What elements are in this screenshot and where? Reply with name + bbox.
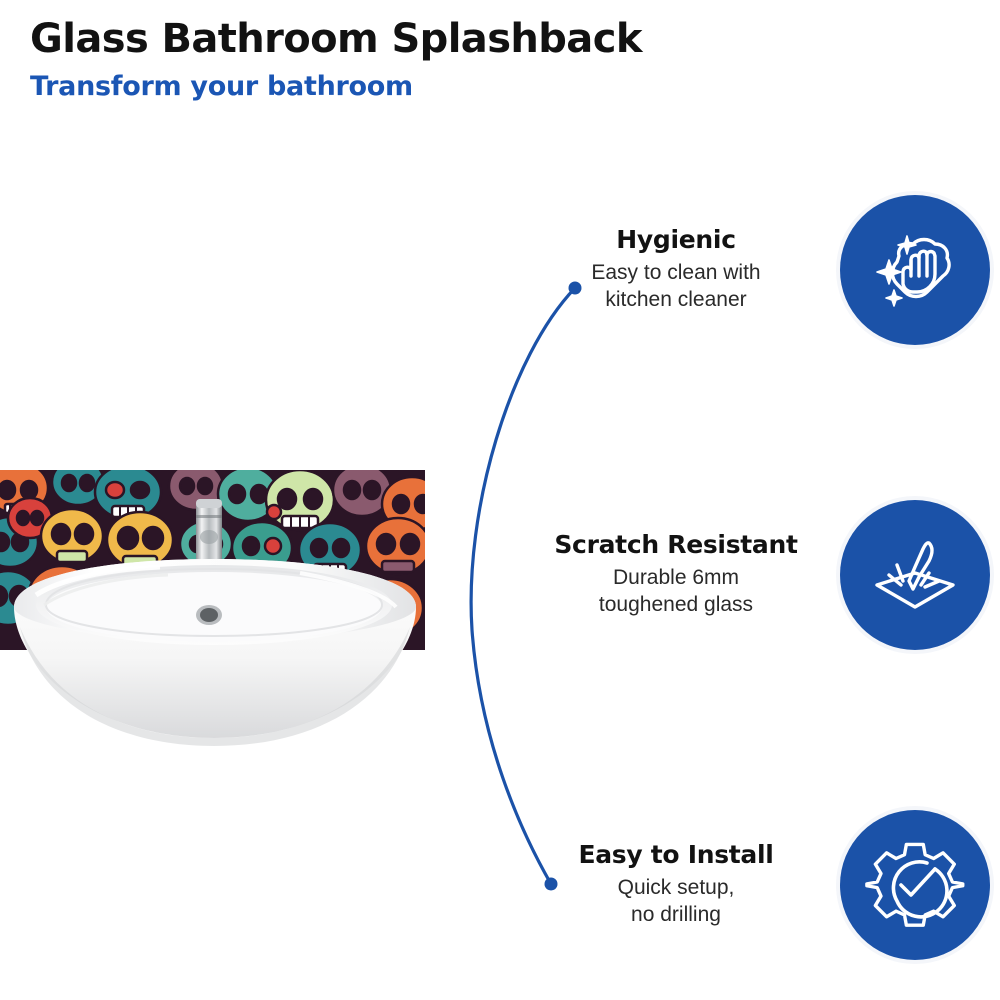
feature-row-easy-to-install: Easy to Install Quick setup, no drilling (520, 800, 990, 970)
feature-text-block: Hygienic Easy to clean with kitchen clea… (526, 226, 826, 314)
feature-row-scratch-resistant: Scratch Resistant Durable 6mm toughened … (520, 490, 990, 660)
feature-icon-circle (840, 195, 990, 345)
feature-title: Easy to Install (526, 841, 826, 870)
sink-bowl (14, 559, 416, 746)
feature-description-line-1: Quick setup, (526, 874, 826, 902)
feature-description: Easy to clean with kitchen cleaner (526, 259, 826, 314)
feature-title: Scratch Resistant (526, 531, 826, 560)
product-image (0, 455, 430, 785)
feature-description: Durable 6mm toughened glass (526, 564, 826, 619)
feature-title: Hygienic (526, 226, 826, 255)
feature-icon-circle (840, 500, 990, 650)
gear-checkmark-icon (865, 835, 965, 935)
feature-icon-circle (840, 810, 990, 960)
header: Glass Bathroom Splashback Transform your… (30, 18, 850, 102)
feature-description-line-2: toughened glass (526, 591, 826, 619)
feature-description-line-1: Durable 6mm (526, 564, 826, 592)
feature-description: Quick setup, no drilling (526, 874, 826, 929)
feature-row-hygienic: Hygienic Easy to clean with kitchen clea… (520, 185, 990, 355)
knife-on-surface-icon (867, 527, 963, 623)
vessel-sink-and-tap (0, 455, 430, 785)
feature-text-block: Scratch Resistant Durable 6mm toughened … (526, 531, 826, 619)
infographic-page: Glass Bathroom Splashback Transform your… (0, 0, 1000, 1000)
feature-text-block: Easy to Install Quick setup, no drilling (526, 841, 826, 929)
hand-wiping-sparkle-icon (867, 222, 963, 318)
page-subtitle: Transform your bathroom (30, 72, 850, 102)
feature-description-line-2: kitchen cleaner (526, 286, 826, 314)
page-title: Glass Bathroom Splashback (30, 18, 850, 61)
feature-description-line-1: Easy to clean with (526, 259, 826, 287)
feature-description-line-2: no drilling (526, 901, 826, 929)
